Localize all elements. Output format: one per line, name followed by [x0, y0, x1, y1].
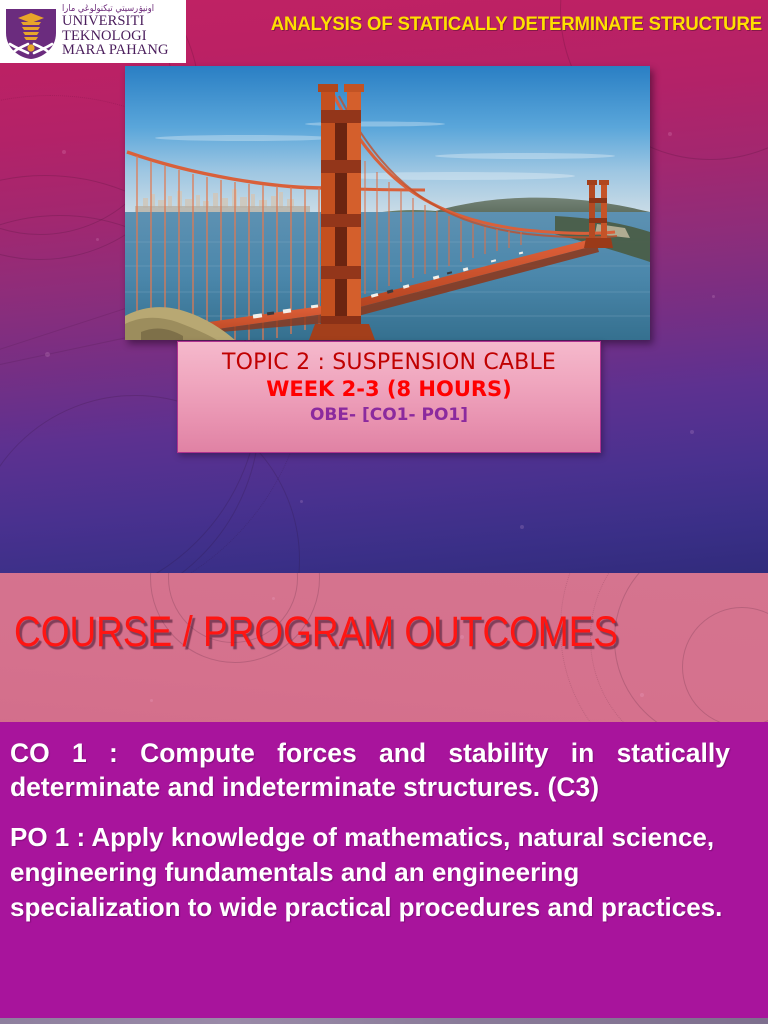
section-heading: COURSE / PROGRAM OUTCOMES [14, 606, 650, 664]
sparkle-dot [712, 295, 715, 298]
sparkle-dot [150, 699, 153, 702]
topic-info-box: TOPIC 2 : SUSPENSION CABLE WEEK 2-3 (8 H… [177, 341, 601, 453]
sparkle-dot [520, 525, 524, 529]
sparkle-dot [272, 597, 275, 600]
logo-arabic-text: اونيۏرسيتي تيكنولوڠي مارا [62, 5, 174, 14]
university-logo: اونيۏرسيتي تيكنولوڠي مارا UNIVERSITI TEK… [0, 0, 186, 63]
sparkle-dot [96, 238, 99, 241]
sparkle-dot [62, 150, 66, 154]
logo-wordmark: اونيۏرسيتي تيكنولوڠي مارا UNIVERSITI TEK… [60, 5, 186, 58]
course-outcome-co1: CO 1 : Compute forces and stability in s… [10, 736, 752, 804]
golden-gate-bridge-photo [125, 66, 650, 340]
slide-1: اونيۏرسيتي تيكنولوڠي مارا UNIVERSITI TEK… [0, 0, 768, 573]
sparkle-dot [668, 132, 672, 136]
topic-title: TOPIC 2 : SUSPENSION CABLE [178, 350, 600, 375]
program-outcome-po1: PO 1 : Apply knowledge of mathematics, n… [10, 820, 752, 925]
outcomes-panel: CO 1 : Compute forces and stability in s… [0, 722, 768, 1018]
sparkle-dot [300, 500, 303, 503]
sparkle-dot [45, 352, 50, 357]
slide-deck-page: اونيۏرسيتي تيكنولوڠي مارا UNIVERSITI TEK… [0, 0, 768, 1024]
logo-line-universiti: UNIVERSITI [62, 14, 184, 29]
topic-obe-code: OBE- [CO1- PO1] [178, 405, 600, 425]
topic-week: WEEK 2-3 (8 HOURS) [178, 377, 600, 401]
logo-line-mara-pahang: MARA PAHANG [62, 43, 184, 58]
page-title: ANALYSIS OF STATICALLY DETERMINATE STRUC… [221, 13, 763, 43]
logo-line-teknologi: TEKNOLOGI [62, 29, 184, 44]
sparkle-dot [640, 693, 644, 697]
utm-mara-crest-icon [2, 3, 60, 61]
sparkle-dot [690, 430, 694, 434]
slide-2: COURSE / PROGRAM OUTCOMES CO 1 : Compute… [0, 573, 768, 1018]
next-slide-edge [0, 1018, 768, 1024]
